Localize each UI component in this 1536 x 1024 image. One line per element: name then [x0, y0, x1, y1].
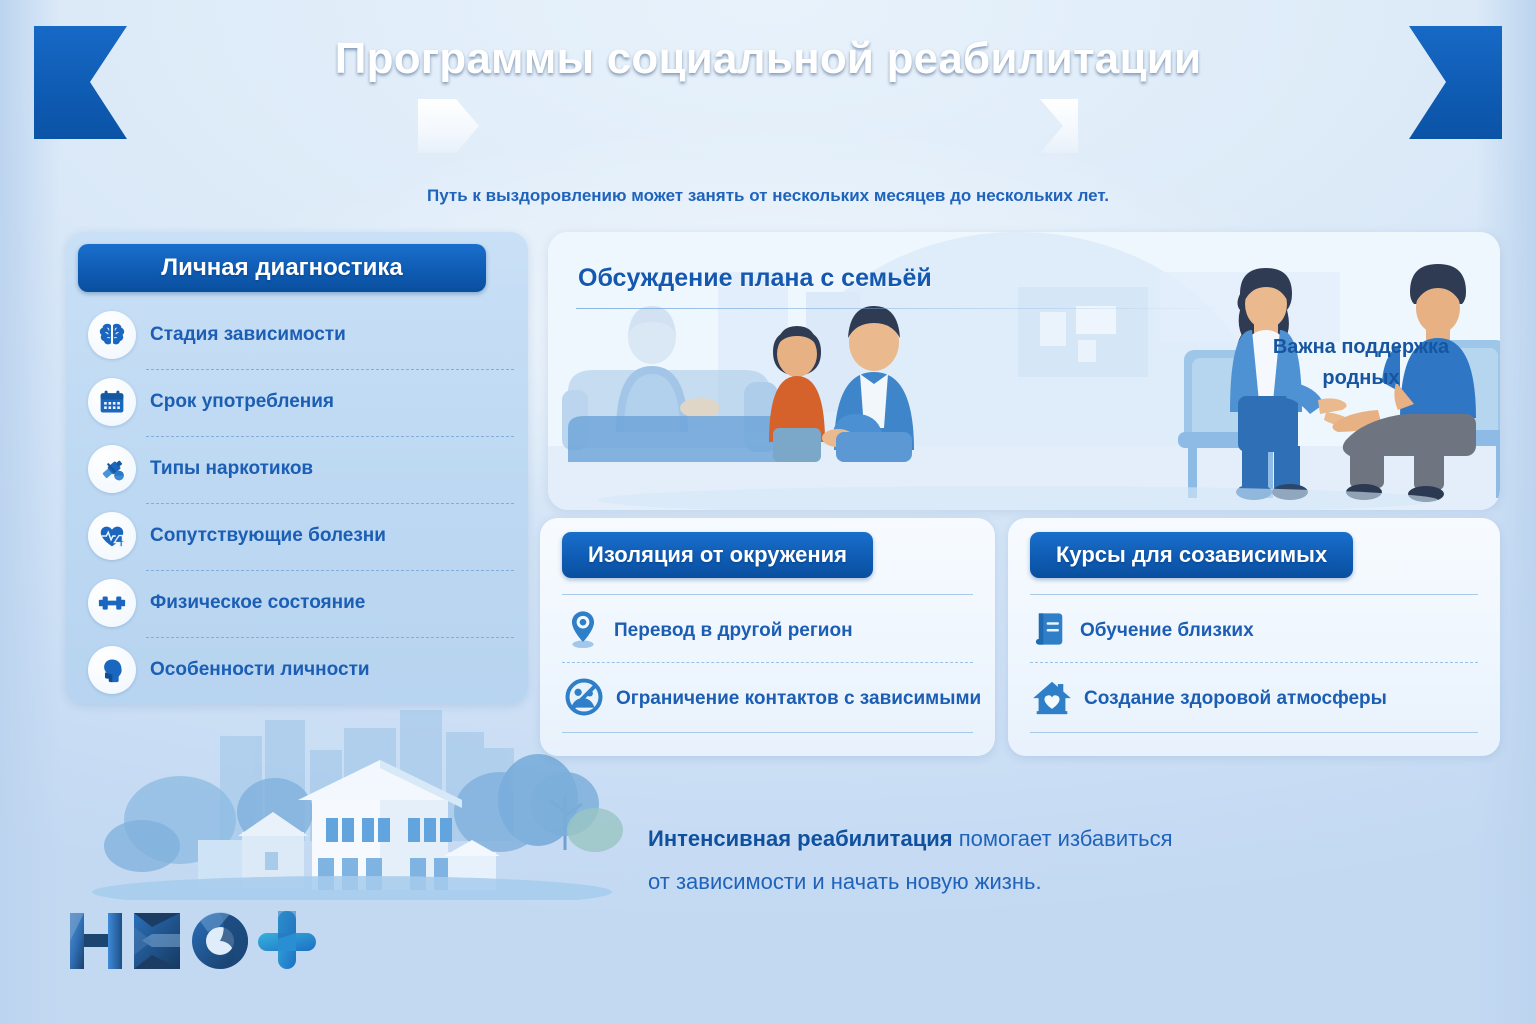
footer-rest: помогает избавиться: [953, 826, 1173, 851]
sidebar-item-label: Срок употребления: [150, 391, 334, 413]
codependent-item-label: Обучение близких: [1080, 620, 1254, 642]
sidebar-item-physical-state[interactable]: Физическое состояние: [88, 572, 508, 634]
personal-diagnostics-panel: Личная диагностика Стадия зависимости: [66, 232, 528, 704]
family-card-title: Обсуждение плана с семьёй: [578, 264, 932, 293]
left-edge-vignette: [0, 0, 60, 1024]
head-profile-icon: [88, 646, 136, 694]
calendar-icon: [88, 378, 136, 426]
home-heart-icon: [1032, 678, 1072, 721]
codependent-item-education[interactable]: Обучение близких: [1032, 602, 1254, 660]
footer-line-1: Интенсивная реабилитация помогает избави…: [648, 818, 1348, 861]
isolation-rule-bottom: [562, 732, 973, 733]
sidebar-item-drug-types[interactable]: Типы наркотиков: [88, 438, 508, 500]
sidebar-item-label: Сопутствующие болезни: [150, 525, 386, 547]
neo-plus-logo: НЕО+: [62, 903, 322, 975]
footer-message: Интенсивная реабилитация помогает избави…: [648, 818, 1348, 904]
book-icon: [1032, 610, 1068, 653]
isolation-divider: [562, 662, 973, 663]
sidebar-item-stage[interactable]: Стадия зависимости: [88, 304, 508, 366]
codependent-card-title: Курсы для созависимых: [1056, 532, 1327, 578]
intro-text: Путь к выздоровлению может занять от нес…: [0, 186, 1536, 206]
family-support-note: Важна поддержка родных: [1246, 332, 1476, 394]
isolation-item-label: Ограничение контактов с зависимыми: [616, 688, 981, 710]
codependent-card-header: Курсы для созависимых: [1030, 532, 1353, 578]
codependent-item-label: Создание здоровой атмосферы: [1084, 688, 1387, 710]
footer-strong: Интенсивная реабилитация: [648, 826, 953, 851]
isolation-item-relocation[interactable]: Перевод в другой регион: [564, 602, 853, 660]
sidebar-item-label: Физическое состояние: [150, 592, 365, 614]
brain-icon: [88, 311, 136, 359]
sidebar-title: Личная диагностика: [78, 244, 486, 292]
page-title: Программы социальной реабилитации: [0, 34, 1536, 84]
codependent-divider: [1030, 662, 1478, 663]
isolation-rule-top: [562, 594, 973, 595]
family-card-rule: [576, 308, 1236, 309]
sidebar-header-pill: Личная диагностика: [78, 244, 486, 292]
isolation-item-label: Перевод в другой регион: [614, 620, 853, 642]
no-contact-icon: [564, 677, 604, 722]
codependent-rule-bottom: [1030, 732, 1478, 733]
sidebar-item-label: Типы наркотиков: [150, 458, 313, 480]
sidebar-item-label: Стадия зависимости: [150, 324, 346, 346]
footer-line-2: от зависимости и начать новую жизнь.: [648, 861, 1348, 904]
header-subtitle-ribbon: для наркозависимых лиц: [418, 99, 1078, 153]
page-subtitle: для наркозависимых лиц: [418, 99, 1078, 153]
sidebar-item-personality[interactable]: Особенности личности: [88, 639, 508, 701]
sidebar-item-duration[interactable]: Срок употребления: [88, 371, 508, 433]
isolation-card: Изоляция от окружения Перевод в другой р…: [540, 518, 995, 756]
codependent-item-healthy-atmosphere[interactable]: Создание здоровой атмосферы: [1032, 670, 1387, 728]
isolation-card-title: Изоляция от окружения: [588, 532, 847, 578]
syringe-icon: [88, 445, 136, 493]
map-pin-icon: [564, 609, 602, 654]
isolation-card-header: Изоляция от окружения: [562, 532, 873, 578]
sidebar-item-comorbidities[interactable]: Сопутствующие болезни: [88, 505, 508, 567]
heart-plus-icon: [88, 512, 136, 560]
family-discussion-card: Обсуждение плана с семьёй Важна поддержк…: [548, 232, 1500, 510]
dumbbell-icon: [88, 579, 136, 627]
codependent-rule-top: [1030, 594, 1478, 595]
right-edge-vignette: [1476, 0, 1536, 1024]
sidebar-item-label: Особенности личности: [150, 659, 370, 681]
isolation-item-limit-contacts[interactable]: Ограничение контактов с зависимыми: [564, 670, 981, 728]
codependent-courses-card: Курсы для созависимых Обучение близких С…: [1008, 518, 1500, 756]
